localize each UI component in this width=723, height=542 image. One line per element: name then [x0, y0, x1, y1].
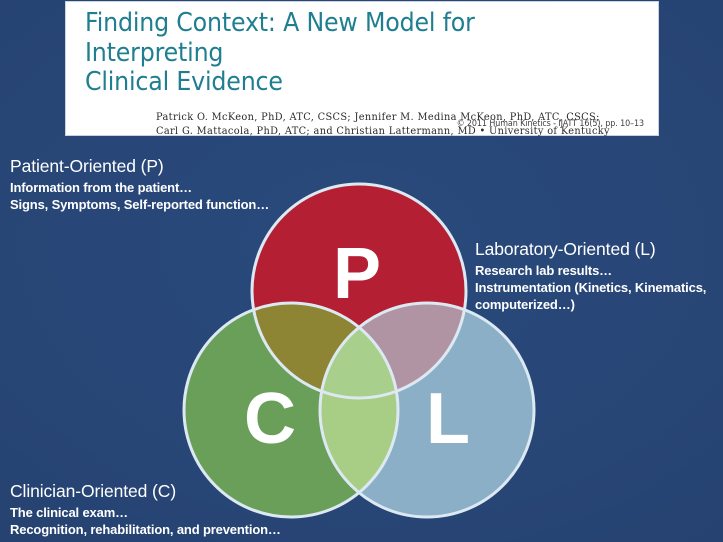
annotation-patient-oriented: Patient-Oriented (P) Information from th…	[10, 157, 269, 213]
annotation-clinician-title: Clinician-Oriented (C)	[10, 482, 281, 502]
annotation-patient-title: Patient-Oriented (P)	[10, 157, 269, 177]
copyright-line: © 2011 Human Kinetics - IJATT 16(5), pp.…	[457, 118, 644, 128]
venn-label-c: C	[225, 383, 315, 455]
annotation-clinician-oriented: Clinician-Oriented (C) The clinical exam…	[10, 482, 281, 538]
annotation-laboratory-oriented: Laboratory-Oriented (L) Research lab res…	[475, 240, 706, 313]
annotation-laboratory-body: Research lab results… Instrumentation (K…	[475, 262, 706, 313]
venn-label-l: L	[403, 383, 493, 455]
annotation-patient-body: Information from the patient… Signs, Sym…	[10, 179, 269, 213]
slide-canvas: Finding Context: A New Model for Interpr…	[0, 0, 723, 542]
page-title: Finding Context: A New Model for Interpr…	[85, 9, 603, 98]
venn-label-p: P	[312, 238, 402, 310]
annotation-clinician-body: The clinical exam… Recognition, rehabili…	[10, 504, 281, 538]
annotation-laboratory-title: Laboratory-Oriented (L)	[475, 240, 706, 260]
header-card: Finding Context: A New Model for Interpr…	[66, 2, 658, 135]
